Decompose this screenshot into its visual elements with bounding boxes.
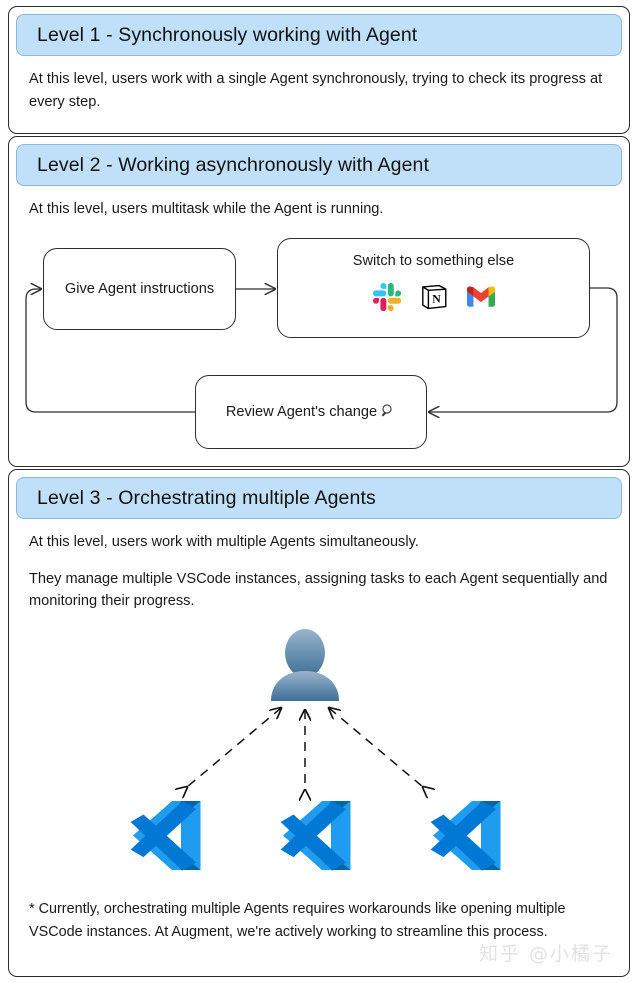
level-1-title: Level 1 - Synchronously working with Age… [37, 24, 417, 47]
vscode-icon-3 [431, 801, 501, 871]
gmail-icon [467, 283, 495, 311]
connector-avatar-to-vscode-3 [329, 708, 423, 787]
vscode-icon-2 [281, 801, 351, 871]
slack-icon [373, 283, 401, 311]
level-3-paragraph-2: They manage multiple VSCode instances, a… [29, 568, 609, 613]
watermark: 知乎 @小橘子 [479, 939, 613, 966]
flow-box-give-instructions[interactable]: Give Agent instructions [43, 248, 236, 330]
level-3-title: Level 3 - Orchestrating multiple Agents [37, 487, 376, 510]
level-2-paragraph-1: At this level, users multitask while the… [29, 198, 609, 221]
flow-box-review-text: Review Agent's change [226, 404, 377, 420]
level-3-card: Level 3 - Orchestrating multiple Agents … [8, 469, 630, 977]
notion-icon: N [420, 283, 448, 311]
magnifier-icon [381, 403, 396, 422]
diagram-page: Level 1 - Synchronously working with Age… [0, 0, 640, 983]
level-1-card: Level 1 - Synchronously working with Age… [8, 6, 630, 134]
level-3-header: Level 3 - Orchestrating multiple Agents [16, 477, 622, 519]
level-3-orchestration-diagram [9, 622, 630, 886]
level-2-title: Level 2 - Working asynchronously with Ag… [37, 154, 429, 177]
level-1-header: Level 1 - Synchronously working with Age… [16, 14, 622, 56]
level-2-header: Level 2 - Working asynchronously with Ag… [16, 144, 622, 186]
vscode-icon-1 [131, 801, 201, 871]
flow-box-review-label: Review Agent's change [226, 403, 396, 422]
level-3-paragraph-1: At this level, users work with multiple … [29, 531, 609, 554]
connector-avatar-to-vscode-1 [187, 708, 281, 787]
svg-text:N: N [432, 293, 441, 306]
level-1-body: At this level, users work with a single … [9, 56, 629, 123]
level-2-card: Level 2 - Working asynchronously with Ag… [8, 136, 630, 467]
level-3-footnote: * Currently, orchestrating multiple Agen… [29, 898, 609, 944]
level-1-paragraph-1: At this level, users work with a single … [29, 68, 609, 113]
flow-box-review-change[interactable]: Review Agent's change [195, 375, 427, 449]
level-3-body: At this level, users work with multiple … [9, 519, 629, 623]
app-icon-row: N [373, 283, 495, 311]
flow-box-switch-label: Switch to something else [353, 253, 514, 269]
level-2-body: At this level, users multitask while the… [9, 186, 629, 231]
user-avatar-icon [271, 629, 339, 701]
flow-box-switch-context[interactable]: Switch to something else [277, 238, 590, 338]
flow-box-give-label: Give Agent instructions [65, 281, 214, 297]
